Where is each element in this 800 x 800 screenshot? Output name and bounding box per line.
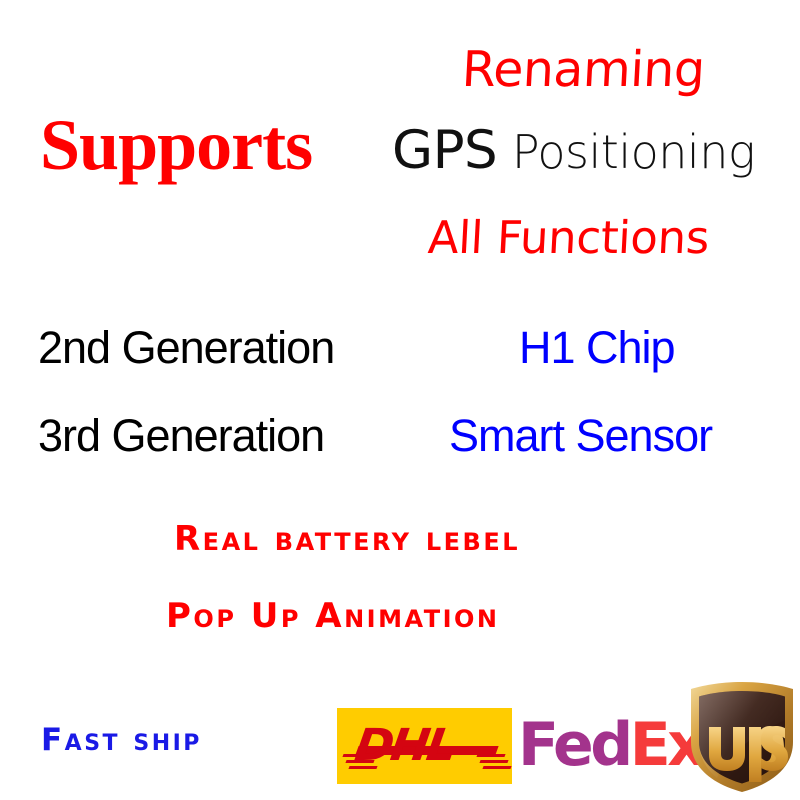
dhl-speed-line-icon <box>482 766 511 769</box>
gps-positioning-text: GPS Positioning <box>392 120 755 181</box>
dhl-speed-line-icon <box>479 760 508 763</box>
promo-banner: Renaming Supports GPS Positioning All Fu… <box>0 0 800 800</box>
dhl-speed-line-icon <box>476 754 505 757</box>
all-functions-text: All Functions <box>427 211 711 264</box>
fedex-wordmark-fed: Fed <box>518 710 630 780</box>
ups-shield-icon <box>687 680 797 794</box>
positioning-label: Positioning <box>512 125 755 179</box>
carrier-logo-row: DHL FedEx <box>335 676 800 794</box>
feature-label-3rd-generation: 3rd Generation <box>38 410 324 462</box>
dhl-wordmark: DHL <box>352 720 457 771</box>
fast-ship-text: Fast ship <box>41 722 202 758</box>
renaming-feature-text: Renaming <box>461 41 707 98</box>
gps-label: GPS <box>392 120 497 181</box>
real-battery-level-text: Real battery lebel <box>174 519 520 559</box>
supports-heading: Supports <box>40 104 312 187</box>
feature-label-2nd-generation: 2nd Generation <box>38 322 334 374</box>
dhl-logo: DHL <box>337 708 512 784</box>
ups-logo <box>687 680 797 794</box>
feature-value-smart-sensor: Smart Sensor <box>449 410 712 462</box>
fedex-logo: FedEx <box>518 712 702 778</box>
pop-up-animation-text: Pop Up Animation <box>166 596 500 636</box>
feature-value-h1-chip: H1 Chip <box>519 322 675 374</box>
